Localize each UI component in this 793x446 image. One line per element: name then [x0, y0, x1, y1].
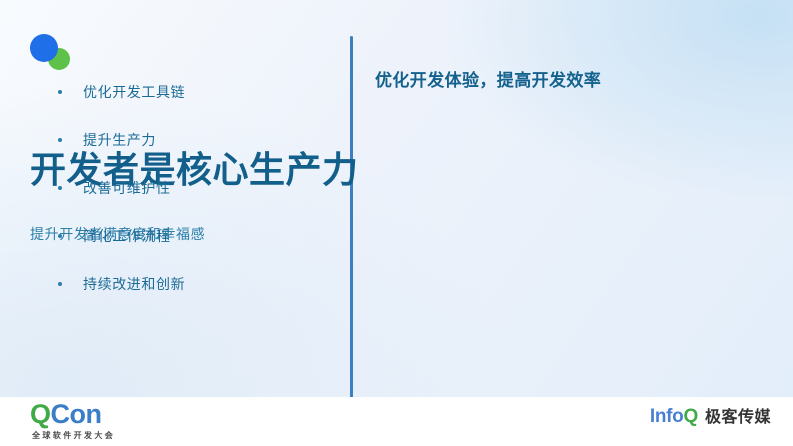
list-item: 持续改进和创新: [57, 274, 387, 322]
infoq-suffix-label: 极客传媒: [698, 410, 771, 426]
infoq-q-letter: Q: [684, 406, 698, 427]
qcon-tagline: 全球软件开发大会: [30, 428, 210, 441]
right-column: 优化开发体验，提高开发效率: [375, 70, 765, 92]
infoq-info-letters: Info: [650, 406, 684, 427]
list-item-label: 简化工作流程: [83, 228, 171, 244]
list-item: 优化开发工具链: [57, 82, 387, 130]
blue-circle-icon: [30, 34, 58, 62]
presentation-slide: 开发者是核心生产力 提升开发者满意度和幸福感 优化开发体验，提高开发效率 优化开…: [0, 0, 793, 446]
dual-circle-logo-mark: [28, 32, 74, 72]
list-item-label: 持续改进和创新: [83, 276, 185, 292]
qcon-logo: QCon 全球软件开发大会: [30, 401, 210, 441]
list-item-label: 提升生产力: [83, 132, 156, 148]
qcon-con-letters: Con: [51, 399, 102, 429]
list-item: 提升生产力: [57, 130, 387, 178]
list-item-label: 优化开发工具链: [83, 84, 185, 100]
bullet-dot-icon: [58, 186, 62, 190]
bullet-dot-icon: [58, 138, 62, 142]
bullet-list: 优化开发工具链 提升生产力 改善可维护性 简化工作流程 持续改进和创新: [57, 82, 387, 322]
qcon-q-letter: Q: [30, 399, 51, 429]
bullet-dot-icon: [58, 234, 62, 238]
list-item: 简化工作流程: [57, 226, 387, 274]
qcon-wordmark: QCon: [30, 401, 210, 428]
infoq-logo: InfoQ 极客传媒: [650, 407, 771, 426]
list-item: 改善可维护性: [57, 178, 387, 226]
bullet-dot-icon: [58, 90, 62, 94]
section-heading: 优化开发体验，提高开发效率: [375, 70, 765, 92]
list-item-label: 改善可维护性: [83, 180, 171, 196]
infoq-wordmark: InfoQ: [650, 407, 698, 426]
bullet-dot-icon: [58, 282, 62, 286]
